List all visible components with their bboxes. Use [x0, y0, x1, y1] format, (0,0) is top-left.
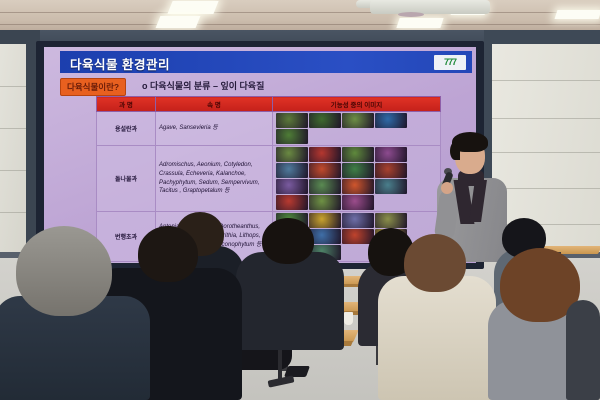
- ceiling-light: [156, 16, 201, 28]
- wall-seam: [492, 152, 600, 153]
- wall-seam: [492, 188, 600, 189]
- column-header-family: 과 명: [97, 97, 156, 112]
- family-name-cell: 용설란과: [97, 112, 156, 146]
- ceiling-light: [396, 18, 443, 28]
- plant-thumbnail: [342, 163, 374, 178]
- ceiling-seam: [0, 12, 600, 13]
- plant-thumbnail: [342, 113, 374, 128]
- table-header-row: 과 명 속 명 기능성 중의 이미지: [97, 97, 441, 112]
- attendee-head: [16, 226, 112, 316]
- plant-thumbnail: [309, 113, 341, 128]
- attendee-head: [262, 218, 314, 264]
- plant-thumbnail: [375, 179, 407, 194]
- left-wall-panel: [0, 44, 26, 256]
- slide-title-bar: 다육식물 환경관리 777: [60, 51, 472, 73]
- wall-seam: [0, 170, 26, 171]
- table-row: 용설란과Agave, Sansevieria 등: [97, 112, 441, 146]
- plant-thumbnail: [375, 113, 407, 128]
- ceiling-projector: [370, 0, 490, 14]
- plant-thumbnail: [342, 195, 374, 210]
- plant-thumbnail: [276, 147, 308, 162]
- column-header-images: 기능성 중의 이미지: [273, 97, 441, 112]
- family-name-cell: 돌나물과: [97, 146, 156, 212]
- plant-photo-grid-cell: [273, 112, 441, 146]
- wall-seam: [492, 80, 600, 81]
- ceiling-seam: [0, 24, 600, 25]
- plant-thumbnail: [309, 213, 341, 228]
- presenter-hair: [450, 142, 460, 160]
- slide-title: 다육식물 환경관리: [70, 54, 170, 73]
- logo-mark: 777: [444, 58, 456, 67]
- table-row: 돌나물과Adromischus, Aeonium, Cotyledon, Cra…: [97, 146, 441, 212]
- plant-thumbnail: [276, 129, 308, 144]
- plant-photo-grid-cell: [273, 146, 441, 212]
- attendee-head: [138, 226, 198, 282]
- genus-list-cell: Adromischus, Aeonium, Cotyledon, Crassul…: [156, 146, 273, 212]
- ceiling-light: [555, 10, 600, 19]
- presenter-hand: [441, 182, 453, 194]
- column-header-genus: 속 명: [156, 97, 273, 112]
- wall-seam: [0, 86, 26, 87]
- plant-thumbnail: [276, 113, 308, 128]
- projector-lens-icon: [398, 12, 424, 17]
- plant-thumbnail: [309, 195, 341, 210]
- presentation-slide: 다육식물 환경관리 777 다육식물이란? o 다육식물의 분류 – 잎이 다육…: [44, 47, 476, 263]
- lecture-hall-screenshot: 다육식물 환경관리 777 다육식물이란? o 다육식물의 분류 – 잎이 다육…: [0, 0, 600, 400]
- organization-logo: 777: [434, 55, 466, 70]
- attendee-head: [404, 234, 466, 292]
- attendee-torso: [378, 276, 496, 400]
- attendee-torso: [566, 300, 600, 400]
- plant-thumbnail: [276, 179, 308, 194]
- plant-thumbnail: [276, 163, 308, 178]
- coffee-cup: [344, 312, 353, 325]
- plant-thumbnail: [375, 213, 407, 228]
- plant-thumbnail: [276, 195, 308, 210]
- wall-seam: [492, 118, 600, 119]
- slide-subtitle: o 다육식물의 분류 – 잎이 다육질: [142, 79, 264, 92]
- wall-seam: [0, 128, 26, 129]
- attendee-torso: [236, 252, 344, 350]
- plant-thumbnail: [342, 213, 374, 228]
- plant-thumbnail: [342, 147, 374, 162]
- ceiling: [0, 0, 600, 34]
- plant-thumbnail: [309, 147, 341, 162]
- plant-thumbnail: [342, 179, 374, 194]
- ceiling-light: [167, 1, 218, 14]
- plant-thumbnail: [309, 163, 341, 178]
- plant-thumbnail: [375, 147, 407, 162]
- wall-seam: [0, 212, 26, 213]
- genus-list-cell: Agave, Sansevieria 등: [156, 112, 273, 146]
- plant-thumbnail: [309, 179, 341, 194]
- plant-thumbnail: [375, 163, 407, 178]
- slide-badge: 다육식물이란?: [60, 78, 126, 96]
